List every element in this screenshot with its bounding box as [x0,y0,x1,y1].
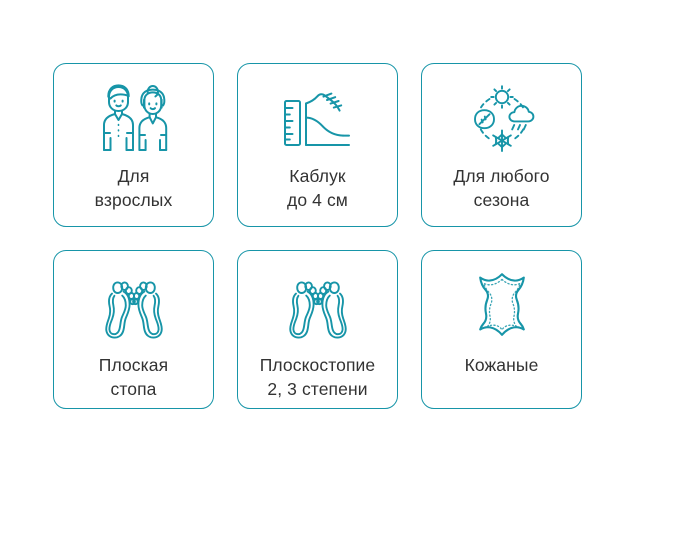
feature-card-label: Кожаные [422,353,581,377]
adults-couple-icon [93,80,175,158]
four-seasons-icon [461,80,543,158]
footprints-icon [277,269,359,345]
shoe-with-ruler-icon [277,80,359,158]
feature-card-label: Плоскостопие 2, 3 степени [238,353,397,401]
feature-card-flat-foot[interactable]: Плоская стопа [53,250,214,409]
feature-card-for-adults[interactable]: Для взрослых [53,63,214,227]
feature-card-label: Плоская стопа [54,353,213,401]
feature-card-heel-up-to-4cm[interactable]: Каблук до 4 см [237,63,398,227]
feature-card-flatfoot-degree-2-3[interactable]: Плоскостопие 2, 3 степени [237,250,398,409]
feature-card-grid: Для взрослых [53,63,583,409]
leather-hide-icon [461,269,543,345]
feature-card-label: Для взрослых [54,164,213,212]
feature-card-label: Каблук до 4 см [238,164,397,212]
feature-card-any-season[interactable]: Для любого сезона [421,63,582,227]
feature-card-leather[interactable]: Кожаные [421,250,582,409]
feature-card-label: Для любого сезона [422,164,581,212]
footprints-icon [93,269,175,345]
